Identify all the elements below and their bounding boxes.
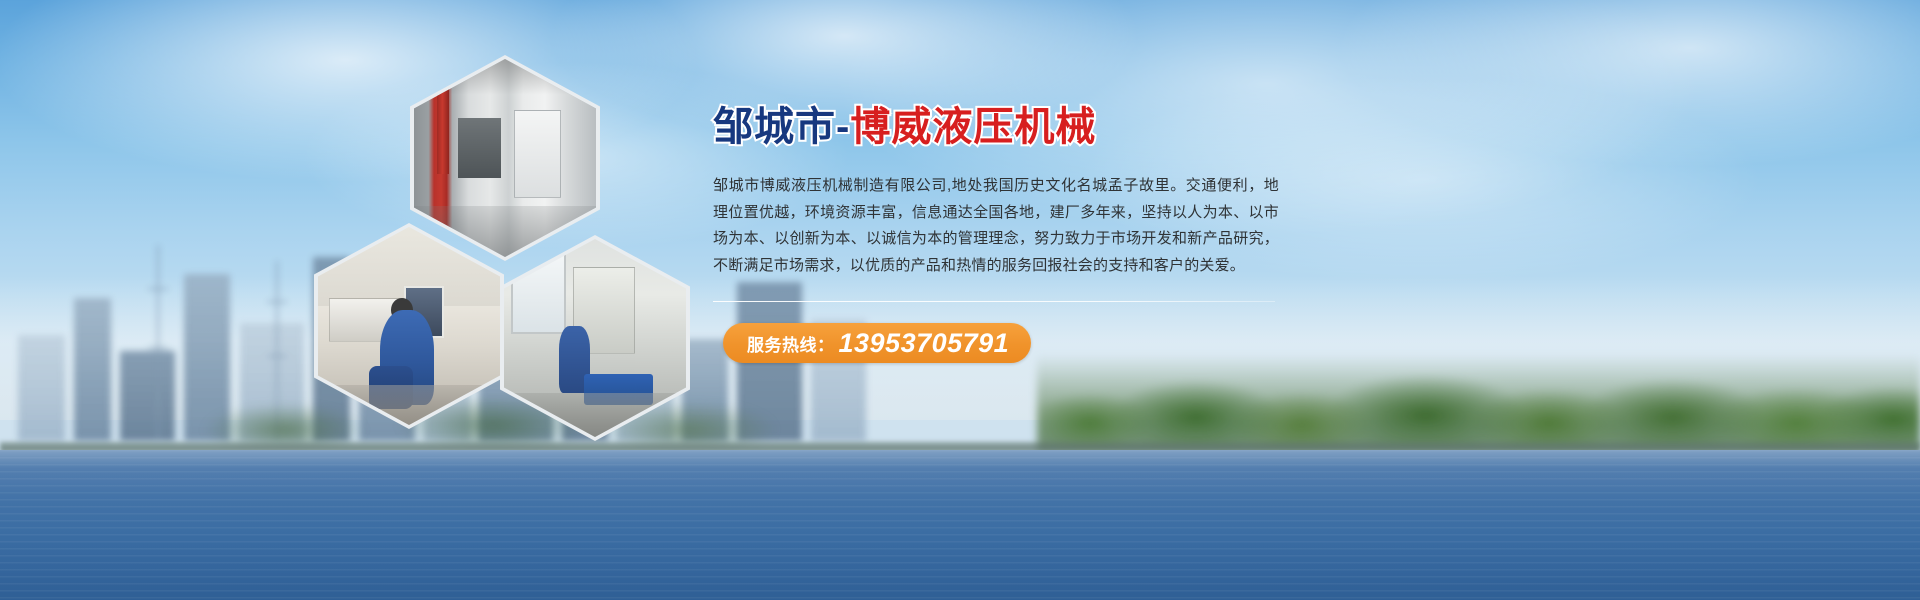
page-title-company: 博威液压机械 <box>850 105 1096 149</box>
content-divider <box>713 301 1275 302</box>
photo-hexagon-test-rig <box>500 235 690 441</box>
page-title: 邹城市-博威液压机械 <box>713 104 1293 151</box>
company-banner: 邹城市-博威液压机械 邹城市博威液压机械制造有限公司,地处我国历史文化名城孟子故… <box>0 0 1920 600</box>
water-reflection-overlay <box>0 450 1920 600</box>
right-tree-band <box>1037 354 1920 450</box>
hotline-badge[interactable]: 服务热线： 13953705791 <box>723 323 1031 363</box>
hexagon-photo-cluster <box>300 55 700 445</box>
hydraulic-test-rig-photo <box>504 239 686 437</box>
banner-content: 邹城市-博威液压机械 邹城市博威液压机械制造有限公司,地处我国历史文化名城孟子故… <box>713 104 1293 363</box>
hotline-label: 服务热线： <box>747 331 835 356</box>
operator-at-test-bench-photo <box>318 227 500 425</box>
page-title-city: 邹城市- <box>713 105 850 149</box>
company-intro-paragraph: 邹城市博威液压机械制造有限公司,地处我国历史文化名城孟子故里。交通便利，地理位置… <box>713 173 1279 279</box>
hotline-number[interactable]: 13953705791 <box>839 328 1010 359</box>
photo-hexagon-operator <box>314 223 504 429</box>
vertical-machining-center-photo <box>414 59 596 257</box>
photo-hexagon-machining-center <box>410 55 600 261</box>
